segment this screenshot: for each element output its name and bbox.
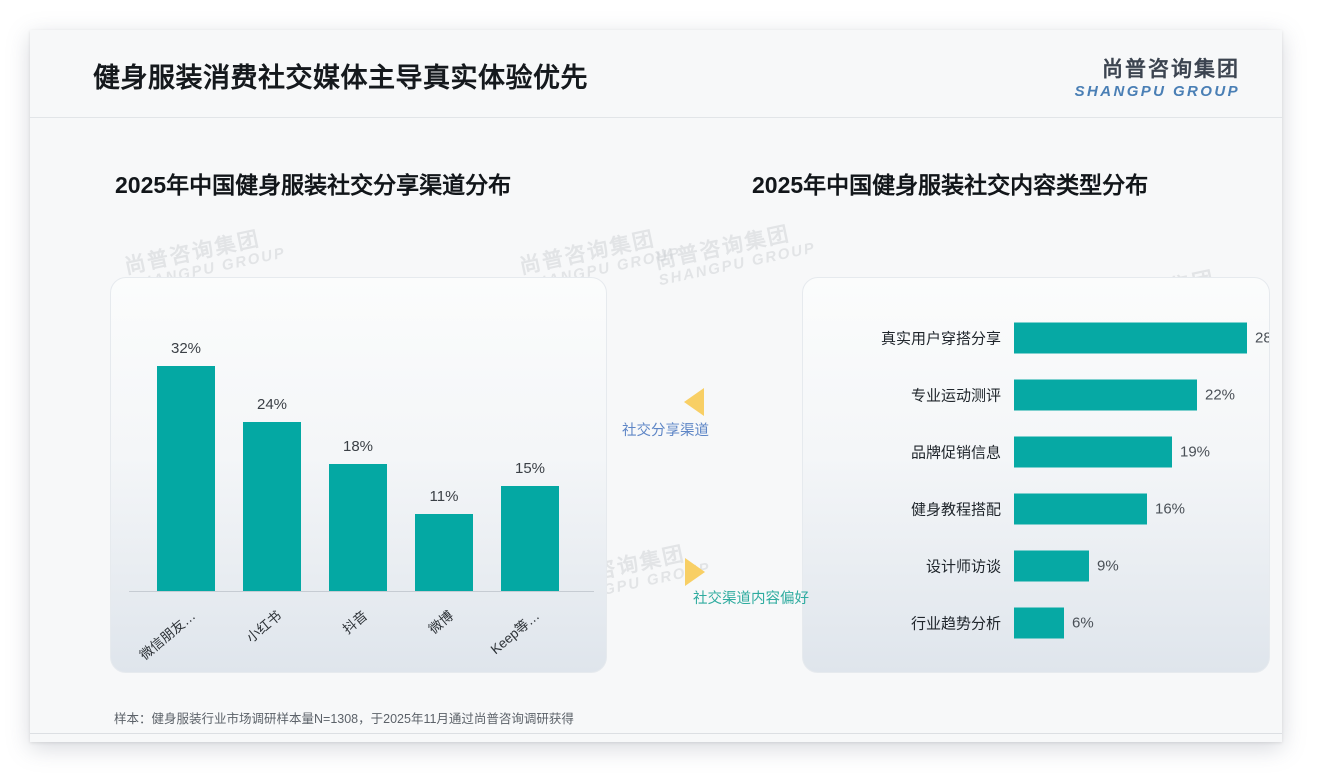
footnote: 样本：健身服装行业市场调研样本量N=1308，于2025年11月通过尚普咨询调研…	[114, 708, 574, 727]
annotation-label: 社交渠道内容偏好	[693, 587, 809, 608]
bar-fill	[1014, 380, 1197, 411]
bar-fill	[1014, 608, 1064, 639]
triangle-left-icon	[684, 388, 704, 416]
column-category-label: 微信朋友…	[134, 605, 199, 664]
left-chart-panel: 32%微信朋友…24%小红书18%抖音11%微博15%Keep等…	[110, 277, 607, 673]
bar-category-label: 健身教程搭配	[803, 499, 1001, 520]
bar-row: 设计师访谈9%	[803, 549, 1269, 583]
page-title: 健身服装消费社交媒体主导真实体验优先	[93, 56, 588, 95]
column-value-label: 18%	[343, 438, 373, 455]
logo-chinese-text: 尚普咨询集团	[1075, 58, 1240, 82]
chart-baseline	[129, 591, 594, 592]
bar-value-label: 22%	[1205, 387, 1235, 404]
column-group: 18%抖音	[329, 464, 387, 591]
column-bar	[157, 366, 215, 591]
column-category-label: 小红书	[241, 605, 285, 646]
bar-row: 真实用户穿搭分享28%	[803, 321, 1269, 355]
bar-category-label: 品牌促销信息	[803, 442, 1001, 463]
watermark: 尚普咨询集团SHANGPU GROUP	[653, 219, 818, 289]
column-value-label: 15%	[515, 460, 545, 477]
bar-value-label: 6%	[1072, 615, 1094, 632]
column-bar	[243, 422, 301, 591]
vertical-bar-chart: 32%微信朋友…24%小红书18%抖音11%微博15%Keep等…	[111, 278, 606, 672]
bar-category-label: 专业运动测评	[803, 385, 1001, 406]
column-category-label: 微博	[423, 605, 457, 638]
bar-fill	[1014, 494, 1147, 525]
bar-fill	[1014, 551, 1089, 582]
column-category-label: Keep等…	[485, 605, 543, 658]
bar-value-label: 9%	[1097, 558, 1119, 575]
bar-row: 健身教程搭配16%	[803, 492, 1269, 526]
bar-category-label: 设计师访谈	[803, 556, 1001, 577]
bar-fill	[1014, 323, 1247, 354]
triangle-right-icon	[685, 558, 705, 586]
column-group: 24%小红书	[243, 422, 301, 591]
bar-row: 专业运动测评22%	[803, 378, 1269, 412]
slide-canvas: 健身服装消费社交媒体主导真实体验优先 尚普咨询集团 SHANGPU GROUP …	[30, 30, 1282, 742]
bar-value-label: 28%	[1255, 330, 1270, 347]
column-bar	[329, 464, 387, 591]
column-bar	[415, 514, 473, 591]
column-group: 15%Keep等…	[501, 486, 559, 591]
column-value-label: 24%	[257, 396, 287, 413]
bar-value-label: 19%	[1180, 444, 1210, 461]
bar-category-label: 真实用户穿搭分享	[803, 328, 1001, 349]
right-chart-panel: 真实用户穿搭分享28%专业运动测评22%品牌促销信息19%健身教程搭配16%设计…	[802, 277, 1270, 673]
bar-category-label: 行业趋势分析	[803, 613, 1001, 634]
footer-divider	[30, 733, 1282, 734]
column-bar	[501, 486, 559, 591]
bar-value-label: 16%	[1155, 501, 1185, 518]
left-chart-title: 2025年中国健身服装社交分享渠道分布	[115, 166, 511, 200]
slide-header: 健身服装消费社交媒体主导真实体验优先 尚普咨询集团 SHANGPU GROUP	[30, 30, 1282, 118]
column-value-label: 32%	[171, 340, 201, 357]
column-value-label: 11%	[430, 488, 459, 505]
bar-row: 行业趋势分析6%	[803, 606, 1269, 640]
column-category-label: 抖音	[337, 605, 371, 638]
horizontal-bar-chart: 真实用户穿搭分享28%专业运动测评22%品牌促销信息19%健身教程搭配16%设计…	[803, 278, 1269, 672]
brand-logo: 尚普咨询集团 SHANGPU GROUP	[1075, 58, 1240, 100]
bar-row: 品牌促销信息19%	[803, 435, 1269, 469]
column-group: 11%微博	[415, 514, 473, 591]
column-group: 32%微信朋友…	[157, 366, 215, 591]
right-chart-title: 2025年中国健身服装社交内容类型分布	[752, 166, 1148, 200]
bar-fill	[1014, 437, 1172, 468]
annotation-label: 社交分享渠道	[622, 419, 709, 440]
logo-english-text: SHANGPU GROUP	[1075, 84, 1240, 101]
